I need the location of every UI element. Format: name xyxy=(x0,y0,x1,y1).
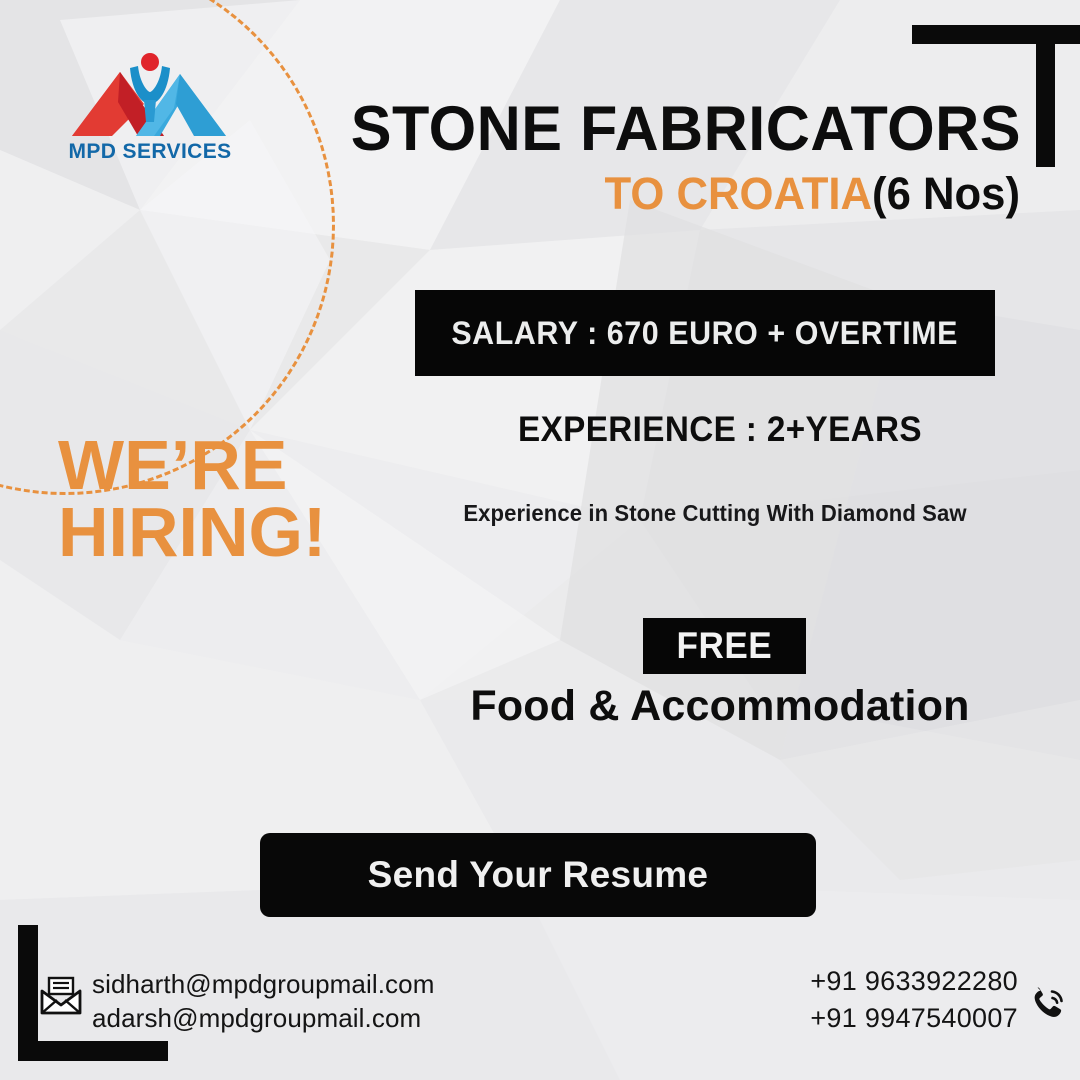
email-list[interactable]: sidharth@mpdgroupmail.com adarsh@mpdgrou… xyxy=(92,967,434,1036)
email-secondary[interactable]: adarsh@mpdgroupmail.com xyxy=(92,1001,434,1035)
hiring-line-2: HIRING! xyxy=(58,499,418,566)
send-resume-button[interactable]: Send Your Resume xyxy=(260,833,816,917)
salary-banner: SALARY : 670 EURO + OVERTIME xyxy=(415,290,995,376)
corner-bracket-top-right-vertical xyxy=(1036,25,1055,167)
phone-list[interactable]: +91 9633922280 +91 9947540007 xyxy=(810,963,1018,1038)
mpd-services-logo: MPD SERVICES xyxy=(60,48,240,166)
free-badge: FREE xyxy=(643,618,806,674)
hiring-line-1: WE’RE xyxy=(58,432,418,499)
envelope-icon xyxy=(38,974,84,1018)
were-hiring-text: WE’RE HIRING! xyxy=(58,432,418,566)
vacancy-count: (6 Nos) xyxy=(872,168,1020,219)
recruitment-poster: MPD SERVICES STONE FABRICATORS TO CROATI… xyxy=(0,0,1080,1080)
logo-wordmark: MPD SERVICES xyxy=(68,140,231,163)
experience-requirement: EXPERIENCE : 2+YEARS xyxy=(435,410,1005,450)
phone-secondary[interactable]: +91 9947540007 xyxy=(810,1000,1018,1037)
experience-note: Experience in Stone Cutting With Diamond… xyxy=(408,500,1022,527)
send-resume-label: Send Your Resume xyxy=(368,854,709,896)
job-title: STONE FABRICATORS xyxy=(351,98,1020,161)
corner-bracket-bottom-left-horizontal xyxy=(18,1041,168,1061)
benefits-detail: Food & Accommodation xyxy=(420,682,1020,731)
free-badge-text: FREE xyxy=(677,625,773,667)
salary-text: SALARY : 670 EURO + OVERTIME xyxy=(452,315,959,352)
phone-primary[interactable]: +91 9633922280 xyxy=(810,963,1018,1000)
destination-line: TO CROATIA(6 Nos) xyxy=(351,171,1020,216)
phone-call-icon xyxy=(1027,982,1071,1026)
headline-block: STONE FABRICATORS TO CROATIA(6 Nos) xyxy=(330,98,1020,216)
destination-country: TO CROATIA xyxy=(605,168,873,219)
email-primary[interactable]: sidharth@mpdgroupmail.com xyxy=(92,967,434,1001)
